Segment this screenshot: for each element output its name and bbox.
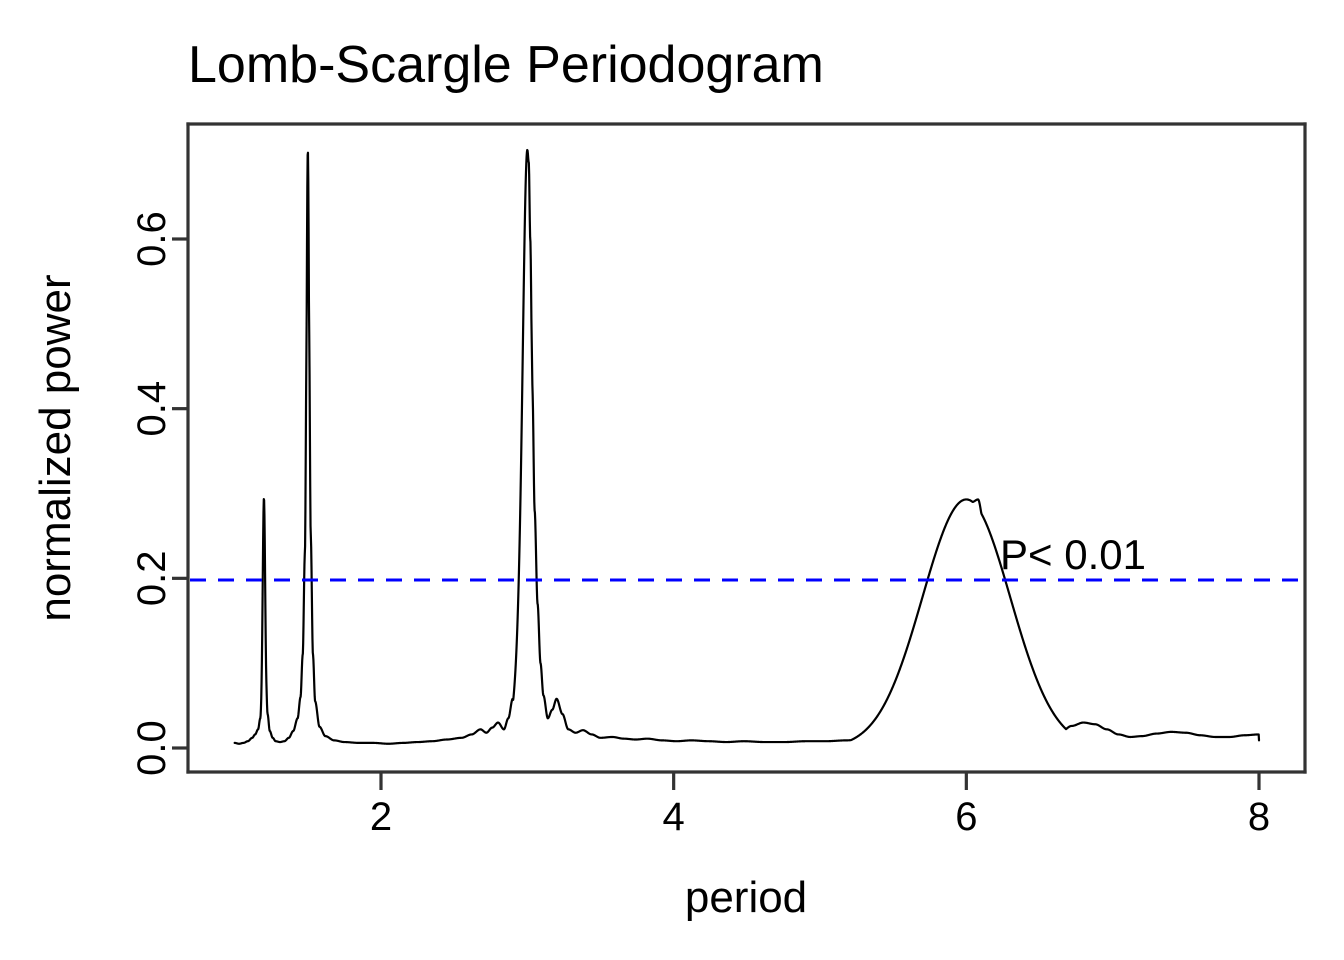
- x-axis-label: period: [685, 873, 807, 922]
- x-tick-label: 8: [1248, 795, 1270, 839]
- chart-title: Lomb-Scargle Periodogram: [188, 36, 824, 94]
- y-tick-label: 0.2: [130, 551, 174, 607]
- x-tick-label: 6: [955, 795, 977, 839]
- periodogram-figure: Lomb-Scargle Periodogram period normaliz…: [0, 0, 1344, 960]
- y-tick-label: 0.6: [130, 211, 174, 267]
- y-axis-label: normalized power: [31, 274, 80, 621]
- x-tick-label: 2: [370, 795, 392, 839]
- y-tick-label: 0.4: [130, 381, 174, 437]
- y-tick-label: 0.0: [130, 720, 174, 776]
- plot-canvas: Lomb-Scargle Periodogram period normaliz…: [0, 0, 1344, 960]
- x-tick-label: 4: [663, 795, 685, 839]
- significance-annotation: P< 0.01: [1000, 531, 1146, 578]
